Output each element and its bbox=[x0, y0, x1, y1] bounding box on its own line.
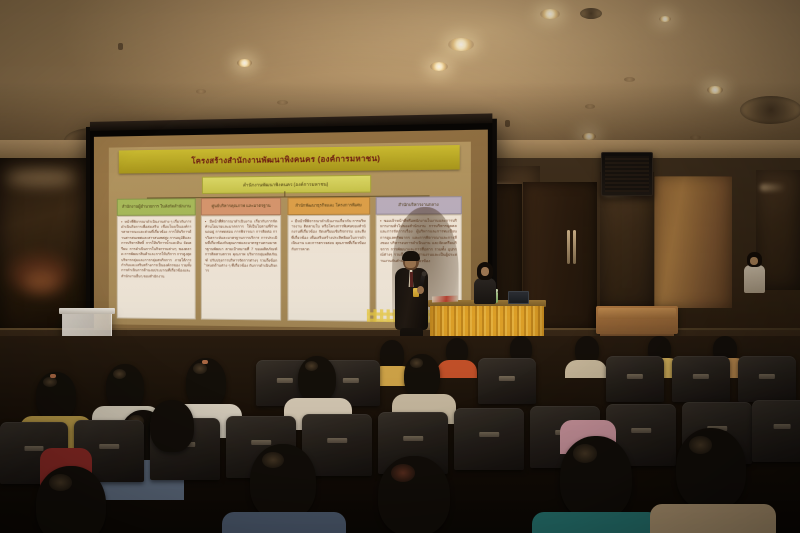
auditorium-seat bbox=[454, 408, 524, 470]
downlight-lit bbox=[540, 9, 560, 19]
audience-shoulders bbox=[650, 504, 776, 533]
hair-accessory bbox=[50, 374, 56, 378]
wall-speaker-icon bbox=[601, 152, 653, 196]
audience-shoulders bbox=[532, 512, 660, 533]
auditorium-seat bbox=[606, 356, 664, 402]
audience-head bbox=[250, 444, 316, 520]
audience-head bbox=[36, 372, 76, 420]
presenter-tie bbox=[410, 272, 413, 287]
panelist-face bbox=[481, 267, 489, 276]
audience-head bbox=[560, 436, 632, 520]
audience-head bbox=[106, 364, 144, 410]
auditorium-seat bbox=[672, 356, 730, 402]
org-chart-column: สำนักงานผู้อำนวยการ ในสังกัดสำนักงาน หน้… bbox=[117, 198, 195, 320]
presenter-hair bbox=[402, 251, 420, 261]
downlight-lit bbox=[707, 86, 723, 94]
org-chart-column-text: มีหน้าที่พิจารณาดำเนินงานเกี่ยวกับ การบร… bbox=[291, 219, 366, 253]
bench-cushion bbox=[598, 308, 676, 319]
auditorium-seat bbox=[752, 400, 800, 462]
org-chart-column-header: สำนักงานผู้อำนวยการ ในสังกัดสำนักงาน bbox=[117, 198, 195, 216]
auditorium-seat bbox=[738, 356, 796, 402]
rear-standing-attendee bbox=[742, 252, 768, 298]
audience-shoulders bbox=[222, 512, 346, 533]
sprinkler-head bbox=[505, 120, 510, 127]
ceiling-vent bbox=[740, 96, 800, 124]
audience-area bbox=[0, 336, 800, 533]
audience-shoulders bbox=[565, 360, 607, 378]
auditorium-seat bbox=[478, 358, 536, 404]
org-chart-column-body: มีหน้าที่พิจารณาดำเนินงานเกี่ยวกับ การบร… bbox=[287, 214, 370, 322]
downlight-lit bbox=[582, 133, 596, 140]
documents-on-table bbox=[432, 296, 458, 303]
seated-panelist bbox=[470, 262, 500, 310]
audience-head bbox=[150, 400, 194, 452]
audience-shoulders bbox=[437, 360, 477, 378]
auditorium-scene: โครงสร้างสำนักงานพัฒนาพิงคนคร (องค์การมห… bbox=[0, 0, 800, 533]
audience-head bbox=[404, 354, 440, 398]
rear-attendee-face bbox=[750, 257, 758, 265]
org-chart-column-text: หน้าที่พิจารณาดำเนินงานต่าง ๆ เกี่ยวกับก… bbox=[121, 219, 191, 280]
lectern-top bbox=[59, 308, 115, 314]
audience-head bbox=[676, 428, 746, 510]
hair-accessory bbox=[202, 360, 208, 364]
org-chart-column: ศูนย์บริหารคุณภาพ และมาตรฐาน มีหน้าที่พิ… bbox=[201, 197, 282, 321]
ceiling-vent bbox=[580, 8, 602, 19]
downlight-lit bbox=[430, 62, 448, 71]
org-chart-root-node: สำนักงานพัฒนาพิงคนคร (องค์การมหาชน) bbox=[202, 175, 371, 194]
org-chart-column-header: ศูนย์บริหารคุณภาพ และมาตรฐาน bbox=[201, 197, 282, 215]
downlight-lit bbox=[237, 59, 252, 67]
rear-attendee-body bbox=[744, 265, 765, 293]
org-chart-column-header: สำนักพัฒนาธุรกิจและ โครงการพิเศษ bbox=[287, 196, 370, 214]
org-chart-column-text: มีหน้าที่พิจารณาดำเนินงาน เกี่ยวกับการจั… bbox=[205, 219, 277, 275]
downlight-lit bbox=[659, 16, 671, 22]
audience-head bbox=[36, 466, 106, 533]
wall-wood-panel bbox=[654, 176, 732, 308]
audience-head bbox=[298, 356, 336, 402]
org-chart-column-body: หน้าที่พิจารณาดำเนินงานต่าง ๆ เกี่ยวกับก… bbox=[117, 215, 195, 320]
presenter-hand bbox=[417, 286, 424, 294]
laptop[interactable] bbox=[506, 291, 528, 303]
downlight-unlit bbox=[624, 77, 635, 82]
downlight-lit bbox=[448, 38, 474, 51]
downlight-unlit bbox=[585, 104, 595, 109]
audience-head bbox=[378, 456, 450, 533]
audience-head bbox=[186, 358, 226, 408]
sprinkler-head bbox=[118, 43, 123, 50]
wooden-bench bbox=[596, 306, 678, 334]
downlight-unlit bbox=[196, 89, 206, 94]
org-chart-column: สำนักพัฒนาธุรกิจและ โครงการพิเศษ มีหน้าท… bbox=[287, 196, 370, 322]
downlight-unlit bbox=[277, 100, 288, 105]
panelist-body bbox=[474, 278, 496, 304]
org-chart-column-body: มีหน้าที่พิจารณาดำเนินงาน เกี่ยวกับการจั… bbox=[201, 215, 282, 321]
slide-title: โครงสร้างสำนักงานพัฒนาพิงคนคร (องค์การมห… bbox=[119, 145, 460, 173]
